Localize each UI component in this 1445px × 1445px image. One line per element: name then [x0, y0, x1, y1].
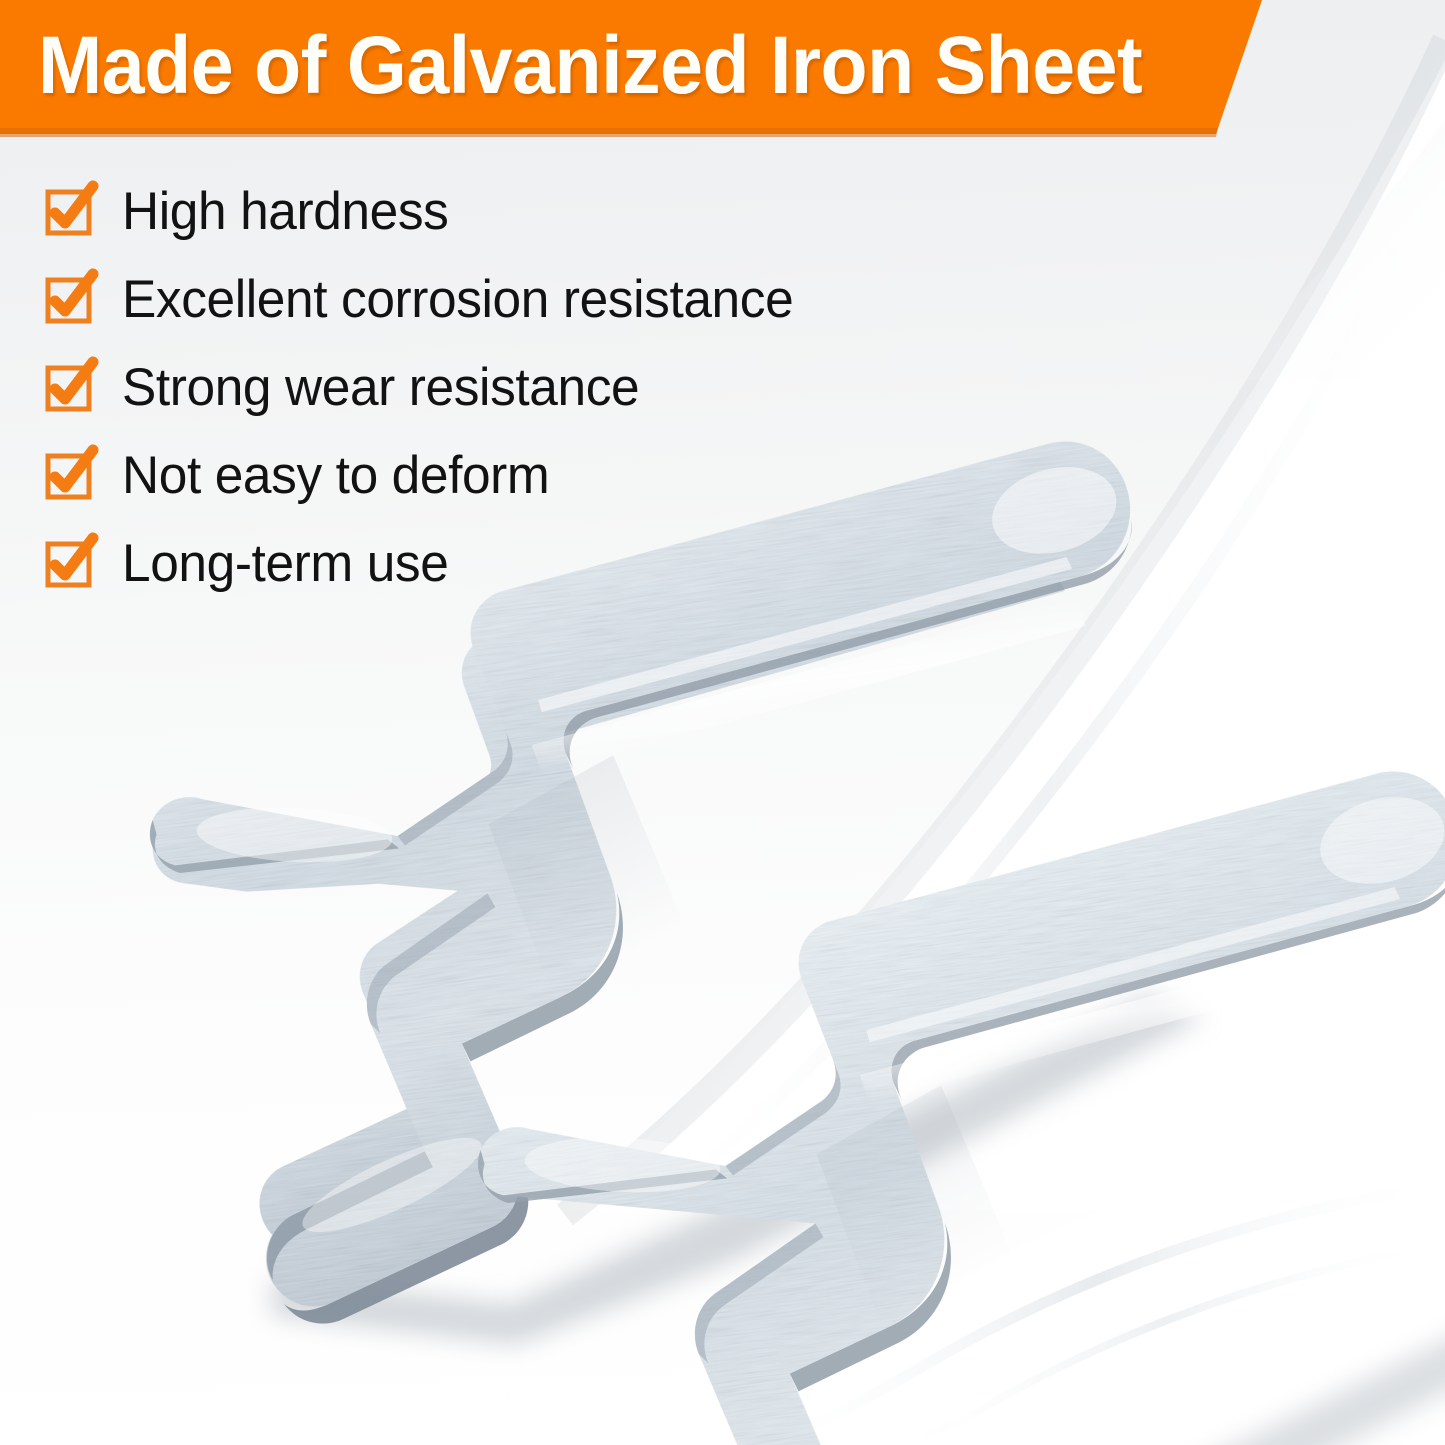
- feature-item: Strong wear resistance: [44, 344, 1044, 432]
- feature-item: Not easy to deform: [44, 432, 1044, 520]
- checkbox-checked-icon: [44, 451, 94, 501]
- feature-label: High hardness: [122, 184, 448, 240]
- product-feature-image: Made of Galvanized Iron Sheet High hardn…: [0, 0, 1445, 1445]
- banner-title: Made of Galvanized Iron Sheet: [38, 18, 1147, 114]
- checkbox-checked-icon: [44, 539, 94, 589]
- checkbox-checked-icon: [44, 363, 94, 413]
- feature-list: High hardness Excellent corrosion resist…: [44, 168, 1044, 608]
- checkbox-checked-icon: [44, 275, 94, 325]
- feature-label: Strong wear resistance: [122, 360, 639, 416]
- feature-label: Not easy to deform: [122, 448, 549, 504]
- feature-item: Excellent corrosion resistance: [44, 256, 1044, 344]
- feature-item: High hardness: [44, 168, 1044, 256]
- feature-label: Excellent corrosion resistance: [122, 272, 793, 328]
- checkbox-checked-icon: [44, 187, 94, 237]
- feature-item: Long-term use: [44, 520, 1044, 608]
- feature-label: Long-term use: [122, 536, 448, 592]
